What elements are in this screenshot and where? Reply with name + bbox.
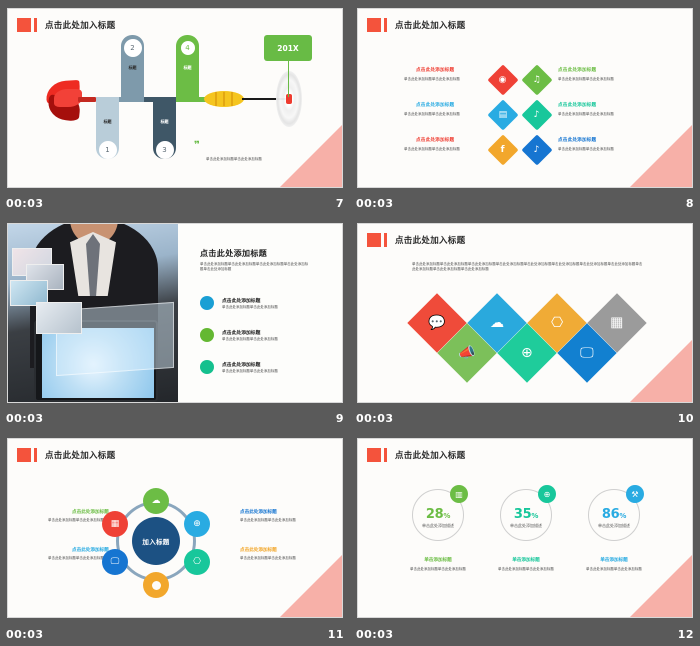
list-glyph: ▤ [499, 110, 508, 119]
megaphone-icon: 📣 [458, 346, 475, 360]
music-note-glyph: ♪ [534, 111, 540, 120]
slide-cell-11[interactable]: 点击此处加入标题 加入标题 ☁ ⊕ ⎔ 🖵 ▦ 点击此处添加标题 单击此处添加标… [0, 430, 350, 646]
bullet-heading: 点击此处添加标题 [222, 361, 260, 368]
stat-number: 35 [514, 507, 532, 522]
stat-number: 86 [602, 507, 620, 522]
node-org-chart[interactable]: ⎔ [184, 549, 210, 575]
cloud-download-icon: ☁ [490, 316, 504, 330]
stat-caption: 单击此处添加描述 [412, 523, 464, 529]
node-calendar[interactable]: ▦ [102, 511, 128, 537]
feature-body: 单击此处添加标题单击此处添加标题 [404, 112, 480, 117]
page-title: 点击此处加入标题 [395, 234, 465, 246]
calendar-icon: ▦ [610, 316, 623, 330]
slide-9[interactable]: 点击此处添加标题 单击此处添加标题单击此处添加标题单击此处添加标题单击此处添加标… [7, 223, 343, 403]
headphones-icon[interactable]: ♫ [521, 64, 552, 95]
timer-label: 00:03 [6, 628, 44, 641]
corner-decoration [630, 340, 692, 402]
node-monitor[interactable]: 🖵 [102, 549, 128, 575]
stat-value: 86% [588, 507, 640, 522]
target-icon[interactable]: ⊕ [538, 485, 556, 503]
bullet-dot [200, 360, 214, 374]
node-cloud[interactable]: ☁ [143, 488, 169, 514]
feature-body: 单击此处添加标题单击此处添加标题 [404, 77, 480, 82]
slide-12[interactable]: 点击此处加入标题 ▥ 28% 单击此处添加描述 单击添加标题 单击此处添加标题单… [357, 438, 693, 618]
feature-heading: 点击此处添加标题 [416, 67, 454, 73]
slide-cell-7[interactable]: 点击此处加入标题 标题 1 [0, 0, 350, 215]
stat-body: 单击此处添加标题单击此处添加标题 [586, 567, 642, 572]
slide-title-bar: 点击此处加入标题 [367, 447, 465, 462]
slide-cell-12[interactable]: 点击此处加入标题 ▥ 28% 单击此处添加描述 单击添加标题 单击此处添加标题单… [350, 430, 700, 646]
corner-decoration [630, 125, 692, 187]
stat-unit: % [443, 512, 450, 520]
label-body: 单击此处添加标题单击此处添加标题 [240, 556, 312, 561]
feature-heading: 点击此处添加标题 [558, 102, 596, 108]
stat-subtitle: 单击添加标题 [408, 557, 468, 563]
stat-value: 28% [412, 507, 464, 522]
page-number: 7 [336, 197, 344, 210]
label-heading: 点击此处添加标题 [72, 547, 109, 553]
page-number: 11 [328, 628, 344, 641]
slide-footer-12: 00:03 12 [350, 622, 700, 646]
bullet-body: 单击此处添加标题单击此处添加标题 [222, 337, 298, 342]
title-accent-square [367, 18, 381, 32]
step-tab-2[interactable]: 2 标题 [121, 35, 144, 102]
bullet-body: 单击此处添加标题单击此处添加标题 [222, 369, 298, 374]
bullet-heading: 点击此处添加标题 [222, 329, 260, 336]
slide-11[interactable]: 点击此处加入标题 加入标题 ☁ ⊕ ⎔ 🖵 ▦ 点击此处添加标题 单击此处添加标… [7, 438, 343, 618]
music-note-icon[interactable]: ♪ [521, 134, 552, 165]
step-tab-3[interactable]: 标题 3 [153, 97, 176, 165]
feature-heading: 点击此处添加标题 [558, 137, 596, 143]
quote-mark-icon: ❞ [194, 141, 200, 151]
lead-paragraph: 单击此处添加标题单击此处添加标题单击此处添加标题单击此处添加标题单击此处添加标题 [200, 262, 310, 273]
stat-unit: % [531, 512, 538, 520]
timer-label: 00:03 [356, 197, 394, 210]
step-label-4: 标题 [176, 65, 199, 71]
page-number: 12 [678, 628, 694, 641]
slide-title-bar: 点击此处加入标题 [367, 232, 465, 247]
org-chart-icon: ⎔ [193, 557, 201, 567]
slide-title-bar: 点击此处加入标题 [17, 447, 115, 462]
page-title: 点击此处加入标题 [45, 449, 115, 461]
node-globe[interactable]: ⊕ [184, 511, 210, 537]
slide-7[interactable]: 点击此处加入标题 标题 1 [7, 8, 343, 188]
step-number-4: 4 [179, 39, 197, 57]
bar-chart-icon[interactable]: ▥ [450, 485, 468, 503]
slide-thumbnail-grid: 点击此处加入标题 标题 1 [0, 0, 700, 646]
step-tab-1[interactable]: 标题 1 [96, 97, 119, 165]
dart-flight-icon [46, 81, 82, 121]
bullet-body: 单击此处添加标题单击此处添加标题 [222, 305, 298, 310]
feature-body: 单击此处添加标题单击此处添加标题 [558, 147, 634, 152]
slide-footer-7: 00:03 7 [0, 191, 350, 215]
stat-subtitle: 单击添加标题 [496, 557, 556, 563]
timer-label: 00:03 [6, 197, 44, 210]
page-title: 点击此处加入标题 [395, 19, 465, 31]
title-accent-square [367, 448, 381, 462]
monitor-icon: 🖵 [111, 557, 120, 567]
intro-paragraph: 单击此处添加标题单击此处添加标题单击此处添加标题单击此处添加标题单击此处添加标题… [412, 262, 644, 273]
slide-footer-8: 00:03 8 [350, 191, 700, 215]
tools-glyph: ⚒ [631, 490, 638, 499]
stat-number: 28 [426, 507, 444, 522]
camera-icon[interactable]: ◉ [487, 64, 518, 95]
businessman-tablet-photo [8, 224, 178, 403]
music-note-glyph: ♪ [534, 146, 540, 155]
title-accent-bar [34, 448, 37, 462]
feature-body: 单击此处添加标题单击此处添加标题 [558, 112, 634, 117]
slide-title-bar: 点击此处加入标题 [367, 17, 465, 32]
stat-caption: 单击此处添加描述 [588, 523, 640, 529]
stat-subtitle: 单击添加标题 [584, 557, 644, 563]
page-number: 8 [686, 197, 694, 210]
dart-shaft-red [78, 97, 96, 102]
step-number-3: 3 [156, 141, 174, 159]
page-title: 点击此处加入标题 [395, 449, 465, 461]
label-heading: 点击此处添加标题 [72, 509, 109, 515]
stat-body: 单击此处添加标题单击此处添加标题 [498, 567, 554, 572]
slide-10[interactable]: 点击此处加入标题 单击此处添加标题单击此处添加标题单击此处添加标题单击此处添加标… [357, 223, 693, 403]
page-title: 点击此处添加标题 [200, 248, 267, 259]
year-connector-line [288, 61, 289, 97]
slide-footer-10: 00:03 10 [350, 406, 700, 430]
year-badge[interactable]: 201X [264, 35, 312, 61]
headphones-glyph: ♫ [533, 75, 541, 84]
step-label-2: 标题 [121, 65, 144, 71]
timer-label: 00:03 [356, 628, 394, 641]
stat-value: 35% [500, 507, 552, 522]
timer-label: 00:03 [356, 412, 394, 425]
slide-cell-10[interactable]: 点击此处加入标题 单击此处添加标题单击此处添加标题单击此处添加标题单击此处添加标… [350, 215, 700, 430]
hub-label[interactable]: 加入标题 [132, 517, 180, 565]
facebook-glyph: f [501, 145, 505, 154]
label-heading: 点击此处添加标题 [240, 547, 277, 553]
stat-body: 单击此处添加标题单击此处添加标题 [410, 567, 466, 572]
slide-8[interactable]: 点击此处加入标题 点击此处添加标题 单击此处添加标题单击此处添加标题 ◉ ♫ 点… [357, 8, 693, 188]
feature-body: 单击此处添加标题单击此处添加标题 [558, 77, 634, 82]
globe-icon: ⊕ [193, 519, 201, 529]
facebook-icon[interactable]: f [487, 134, 518, 165]
title-accent-bar [384, 18, 387, 32]
music-note-icon[interactable]: ♪ [521, 99, 552, 130]
label-body: 单击此处添加标题单击此处添加标题 [240, 518, 312, 523]
bullet-dot [200, 296, 214, 310]
step-label-1: 标题 [96, 119, 119, 125]
speech-bubble-icon: 💬 [428, 316, 445, 330]
step-label-3: 标题 [153, 119, 176, 125]
stat-caption: 单击此处添加描述 [500, 523, 552, 529]
photo-thumbnail [36, 302, 82, 334]
page-number: 9 [336, 412, 344, 425]
target-glyph: ⊕ [544, 490, 551, 499]
label-heading: 点击此处添加标题 [240, 509, 277, 515]
bullet-dot [200, 328, 214, 342]
dart-barrel-icon [204, 91, 244, 107]
calendar-icon: ▦ [111, 519, 120, 529]
slide-footer-11: 00:03 11 [0, 622, 350, 646]
cloud-icon: ☁ [152, 496, 161, 506]
stat-unit: % [619, 512, 626, 520]
content-panel: 点击此处添加标题 单击此处添加标题单击此处添加标题单击此处添加标题单击此处添加标… [178, 224, 343, 403]
corner-decoration [630, 555, 692, 617]
camera-glyph: ◉ [499, 75, 507, 84]
bar-chart-glyph: ▥ [455, 490, 463, 499]
org-chart-icon: ⎔ [551, 316, 563, 330]
title-accent-bar [384, 448, 387, 462]
title-accent-bar [384, 233, 387, 247]
feature-heading: 点击此处添加标题 [558, 67, 596, 73]
feature-heading: 点击此处添加标题 [416, 102, 454, 108]
page-number: 10 [678, 412, 694, 425]
dart-caption: 单击此处添加标题单击此处添加标题 [206, 157, 316, 162]
globe-icon: ⊕ [521, 346, 533, 360]
step-number-1: 1 [99, 141, 117, 159]
timer-label: 00:03 [6, 412, 44, 425]
title-accent-square [367, 233, 381, 247]
tools-icon[interactable]: ⚒ [626, 485, 644, 503]
list-icon[interactable]: ▤ [487, 99, 518, 130]
slide-cell-9[interactable]: 点击此处添加标题 单击此处添加标题单击此处添加标题单击此处添加标题单击此处添加标… [0, 215, 350, 430]
node-speech-bubble[interactable] [143, 572, 169, 598]
dart-infographic: 标题 1 2 标题 标题 3 4 [8, 9, 343, 188]
bullet-heading: 点击此处添加标题 [222, 297, 260, 304]
slide-cell-8[interactable]: 点击此处加入标题 点击此处添加标题 单击此处添加标题单击此处添加标题 ◉ ♫ 点… [350, 0, 700, 215]
step-tab-4[interactable]: 4 标题 [176, 35, 199, 102]
step-number-2: 2 [124, 39, 142, 57]
slide-footer-9: 00:03 9 [0, 406, 350, 430]
monitor-icon: 🖵 [580, 346, 594, 360]
title-accent-square [17, 448, 31, 462]
corner-decoration [280, 555, 342, 617]
feature-heading: 点击此处添加标题 [416, 137, 454, 143]
feature-body: 单击此处添加标题单击此处添加标题 [404, 147, 480, 152]
